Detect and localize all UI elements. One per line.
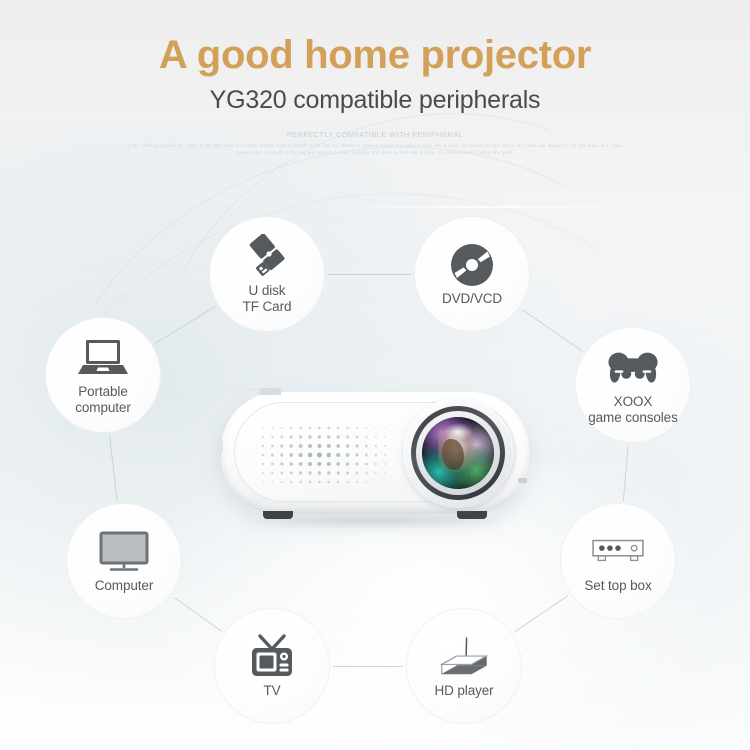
projector-side-port-right [518, 478, 527, 483]
promo-page: A good home projector YG320 compatible p… [0, 0, 750, 750]
projector-speaker-grille [259, 424, 391, 486]
projector-side-port-left [217, 438, 223, 454]
disc-icon [446, 241, 498, 289]
set-top-box-icon [592, 528, 644, 576]
node-label: U disk TF Card [243, 283, 292, 315]
node-label: Set top box [584, 578, 651, 594]
node-game-consoles[interactable]: XOOX game consoles [576, 328, 690, 442]
gamepad-icon [607, 344, 659, 392]
projector-foot-left [263, 511, 293, 519]
projector-lens [403, 398, 513, 508]
header-caption: PERFECTLY COMPATIBLE WITH PERIPHERAL [0, 115, 750, 139]
monitor-icon [98, 528, 150, 576]
node-label: XOOX game consoles [588, 394, 678, 426]
node-computer[interactable]: Computer [67, 504, 181, 618]
node-label: DVD/VCD [442, 291, 502, 307]
header: A good home projector YG320 compatible p… [0, 0, 750, 156]
lens-glass [422, 417, 494, 489]
header-blurb: In the Orient young bulls are reared to … [125, 142, 625, 156]
usb-flash-drive-icon [241, 233, 293, 281]
connector-line [328, 274, 411, 275]
page-title: A good home projector [0, 0, 750, 77]
tv-icon [246, 633, 298, 681]
node-set-top-box[interactable]: Set top box [561, 504, 675, 618]
node-tv[interactable]: TV [215, 609, 329, 723]
node-label: TV [263, 683, 280, 699]
projector-product-image [221, 392, 529, 514]
node-label: Portable computer [75, 384, 130, 416]
node-dvd-vcd[interactable]: DVD/VCD [415, 217, 529, 331]
node-label: Computer [95, 578, 153, 594]
projector-top-nub [259, 388, 281, 395]
node-portable-computer[interactable]: Portable computer [46, 318, 160, 432]
background-streak-1 [340, 206, 640, 208]
node-u-disk-tf-card[interactable]: U disk TF Card [210, 217, 324, 331]
node-label: HD player [434, 683, 493, 699]
projector-body [221, 392, 529, 514]
page-subtitle: YG320 compatible peripherals [0, 77, 750, 115]
node-hd-player[interactable]: HD player [407, 609, 521, 723]
hd-player-icon [438, 633, 490, 681]
connector-line [333, 666, 403, 667]
laptop-icon [77, 334, 129, 382]
projector-foot-right [457, 511, 487, 519]
